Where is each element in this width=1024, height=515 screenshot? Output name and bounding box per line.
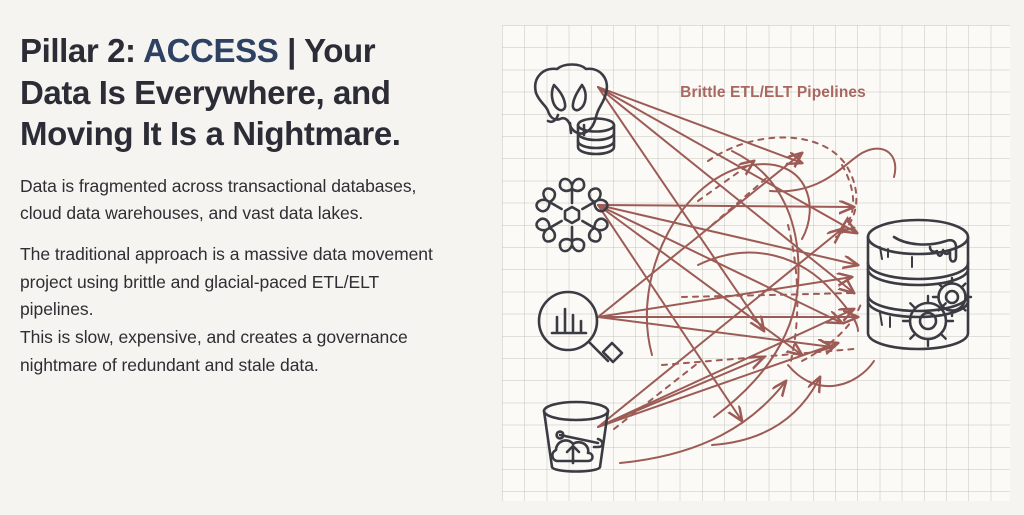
text-column: Pillar 2: ACCESS | Your Data Is Everywhe… xyxy=(20,30,460,392)
headline-accent: ACCESS xyxy=(143,32,278,69)
dashed-pipeline-arrows xyxy=(698,161,853,231)
headline-prefix: Pillar 2: xyxy=(20,32,143,69)
pipeline-diagram xyxy=(502,25,1010,501)
database-stack-gears-icon xyxy=(868,220,971,349)
solid-pipeline-arrows xyxy=(598,87,858,427)
diagram-panel: Brittle ETL/ELT Pipelines xyxy=(502,25,1010,501)
curved-pipeline-arrows xyxy=(620,377,820,463)
body-paragraph-1: Data is fragmented across transactional … xyxy=(20,173,440,228)
magnifier-bar-chart-icon xyxy=(539,292,622,362)
cloud-upload-bucket-icon xyxy=(544,402,608,472)
curved-pipeline-paths xyxy=(647,149,895,417)
slide-root: Pillar 2: ACCESS | Your Data Is Everywhe… xyxy=(0,0,1024,515)
postgres-elephant-icon xyxy=(535,65,614,155)
body-paragraph-3: This is slow, expensive, and creates a g… xyxy=(20,324,440,379)
body-paragraph-2: The traditional approach is a massive da… xyxy=(20,241,440,324)
page-title: Pillar 2: ACCESS | Your Data Is Everywhe… xyxy=(20,30,440,155)
snowflake-icon xyxy=(535,179,610,251)
